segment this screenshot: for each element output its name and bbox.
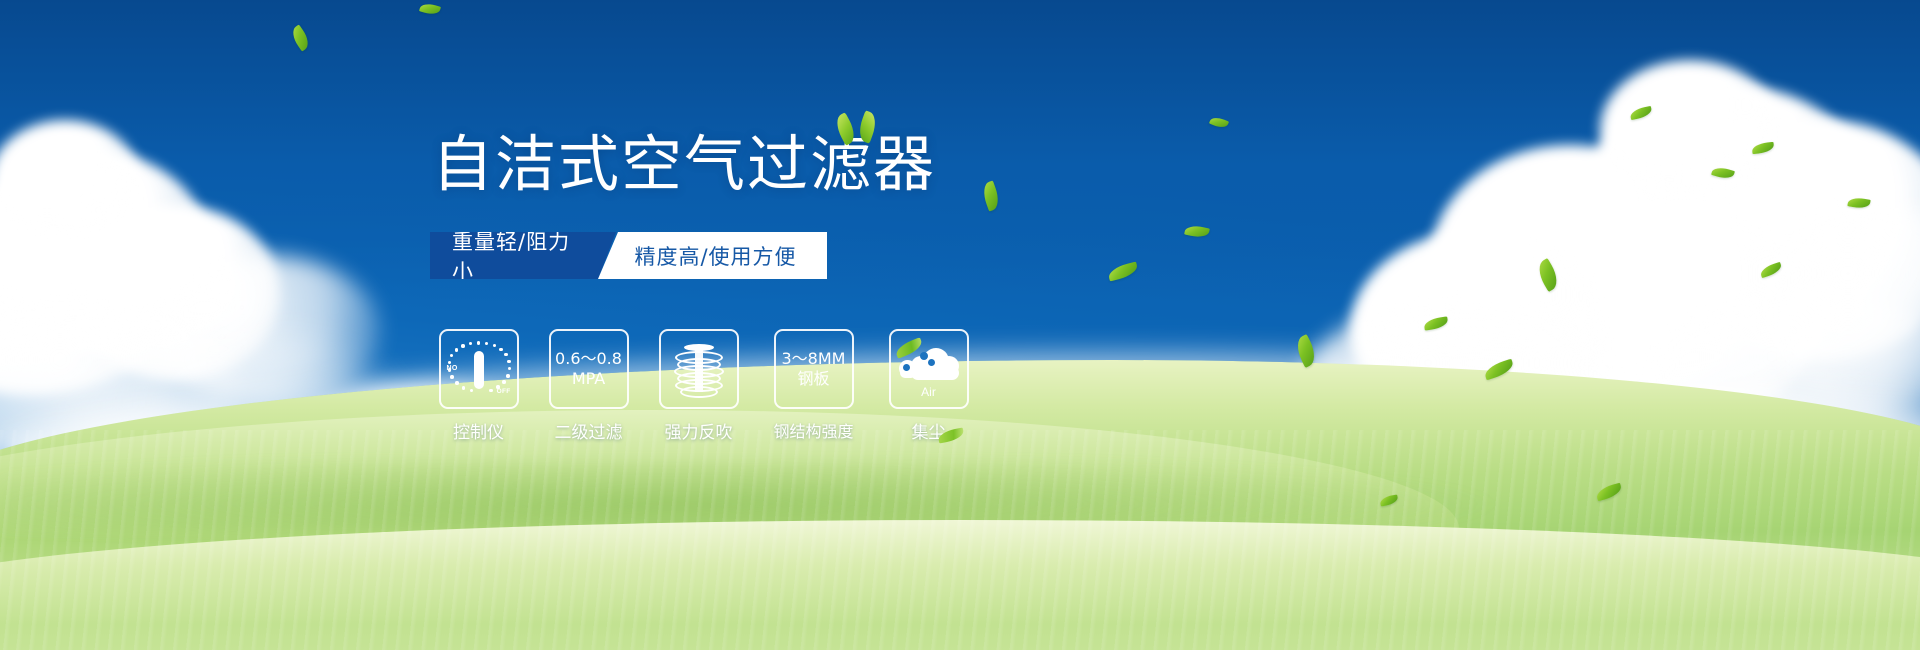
leaf-icon	[855, 110, 879, 143]
tagline-right: 精度高/使用方便	[598, 232, 827, 279]
air-label: Air	[897, 385, 961, 399]
feature-icon-box	[659, 329, 739, 409]
tagline-badge: 重量轻/阻力小 精度高/使用方便	[430, 232, 827, 279]
feature-label: 钢结构强度	[773, 418, 853, 442]
feature-label: 强力反吹	[665, 418, 733, 443]
cloud-air-icon: Air	[897, 340, 961, 398]
feature-list: NO OFF	[436, 329, 971, 443]
gauge-label-off: OFF	[497, 388, 511, 395]
feature-icon-box: 3～8MM 钢板	[774, 329, 854, 409]
pressure-line-2: MPA	[572, 369, 605, 388]
pressure-text-icon: 0.6～0.8 MPA	[555, 349, 622, 390]
gauge-needle	[474, 351, 484, 389]
banner-content: 自洁式空气过滤器 重量轻/阻力小 精度高/使用方便 NO OFF	[0, 0, 1920, 650]
control-gauge-icon: NO OFF	[448, 338, 510, 400]
hero-banner: 自洁式空气过滤器 重量轻/阻力小 精度高/使用方便 NO OFF	[0, 0, 1920, 650]
feature-label: 控制仪	[453, 418, 504, 443]
feature-item-dust[interactable]: Air 集尘	[886, 329, 971, 443]
feature-icon-box: Air	[889, 329, 969, 409]
feature-label: 集尘	[912, 418, 946, 443]
feature-icon-box: NO OFF	[439, 329, 519, 409]
feature-label: 二级过滤	[555, 418, 623, 443]
pressure-line-1: 0.6～0.8	[555, 349, 622, 368]
steel-line-2: 钢板	[797, 369, 829, 388]
steel-line-1: 3～8MM	[782, 349, 846, 368]
tagline-left: 重量轻/阻力小	[430, 232, 616, 279]
feature-item-pressure[interactable]: 0.6～0.8 MPA 二级过滤	[546, 329, 631, 443]
feature-item-control[interactable]: NO OFF	[436, 329, 521, 443]
title-leaf-decoration	[836, 110, 886, 144]
leaf-icon	[832, 112, 859, 146]
feature-icon-box: 0.6～0.8 MPA	[549, 329, 629, 409]
steel-plate-text-icon: 3～8MM 钢板	[782, 349, 846, 390]
feature-item-backblow[interactable]: 强力反吹	[656, 329, 741, 443]
filter-cartridge-icon	[670, 340, 728, 398]
leaf-icon	[937, 427, 965, 443]
feature-item-steel[interactable]: 3～8MM 钢板 钢结构强度	[766, 329, 861, 443]
